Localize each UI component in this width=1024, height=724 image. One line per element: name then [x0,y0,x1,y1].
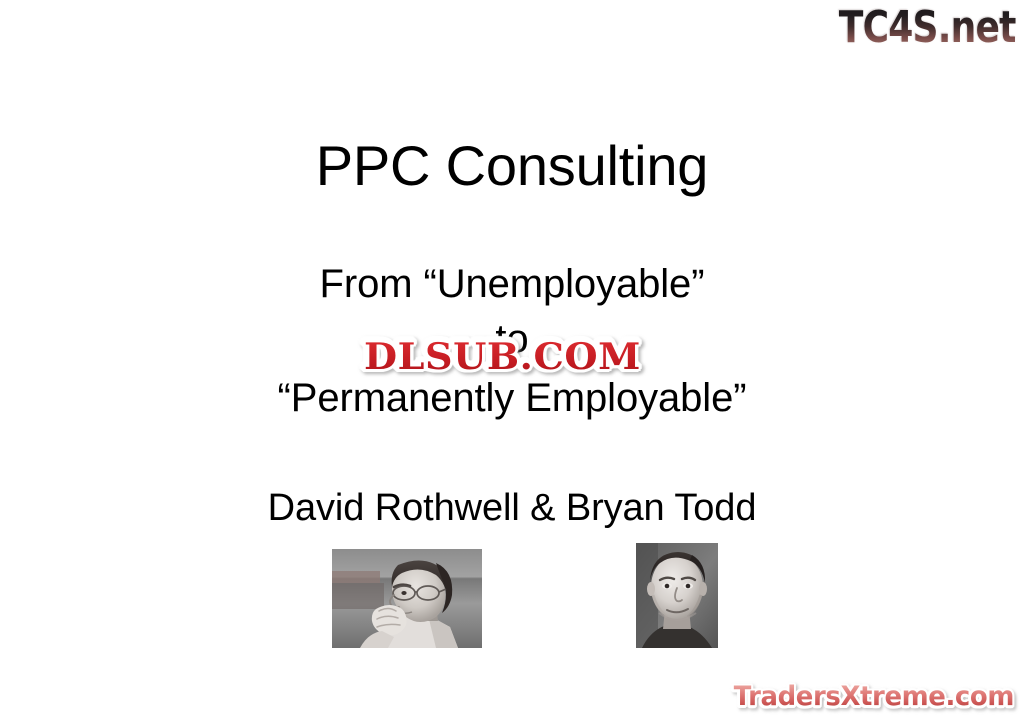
slide-byline-authors: David Rothwell & Bryan Todd [0,489,1024,529]
photo-bryan-todd [636,543,718,648]
photo-bryan-todd-image [636,543,718,648]
subtitle-line-from-unemployable: From “Unemployable” [0,263,1024,305]
watermark-tc4s-net: TC4S.net [839,2,1016,53]
watermark-tradersxtreme-com: TradersXtreme.com [734,681,1014,712]
photo-david-rothwell-image [332,549,482,648]
photo-david-rothwell [332,549,482,648]
presentation-slide: PPC Consulting From “Unemployable” to “P… [0,0,1024,724]
slide-title: PPC Consulting [0,136,1024,195]
subtitle-line-permanently-employable: “Permanently Employable” [0,377,1024,419]
subtitle-line-to: to [0,318,1024,360]
